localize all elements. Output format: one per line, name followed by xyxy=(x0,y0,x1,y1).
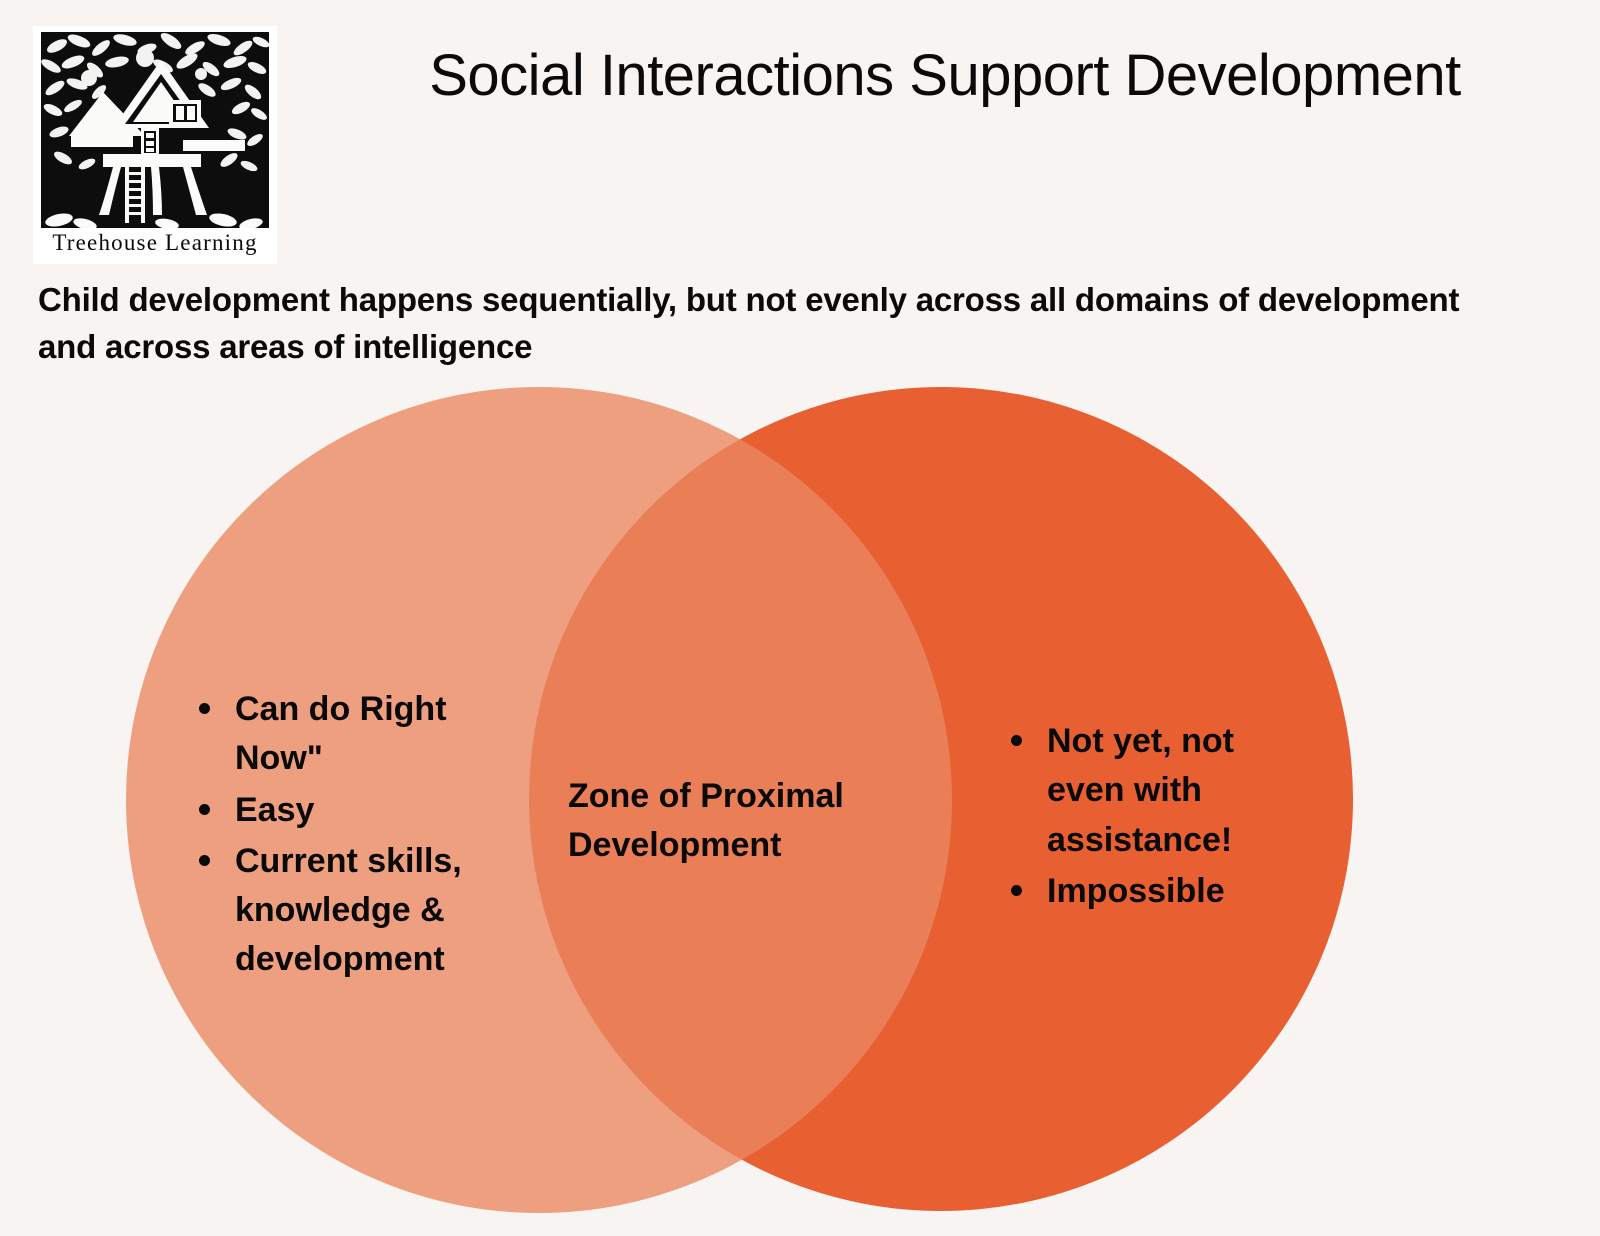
venn-overlap-label: Zone of Proximal Development xyxy=(568,772,898,871)
venn-left-item-1: Easy xyxy=(235,791,314,829)
list-item: Easy xyxy=(193,786,498,835)
list-item: Not yet, not even with assistance! xyxy=(1005,717,1280,865)
page-subtitle: Child development happens sequentially, … xyxy=(38,277,1498,371)
venn-left-item-0: Can do Right Now" xyxy=(235,690,447,777)
logo-caption: Treehouse Learning xyxy=(33,230,277,256)
list-item: Can do Right Now" xyxy=(193,685,498,784)
venn-right-list: Not yet, not even with assistance! Impos… xyxy=(1005,717,1280,918)
venn-left-list: Can do Right Now" Easy Current skills, k… xyxy=(193,685,498,987)
venn-left-item-2: Current skills, knowledge & development xyxy=(235,842,462,979)
venn-right-item-1: Impossible xyxy=(1047,872,1225,910)
list-item: Current skills, knowledge & development xyxy=(193,837,498,985)
page-title: Social Interactions Support Development xyxy=(300,45,1590,108)
list-item: Impossible xyxy=(1005,867,1280,916)
treehouse-illustration-icon xyxy=(41,32,269,228)
logo: Treehouse Learning xyxy=(33,26,277,264)
venn-right-item-0: Not yet, not even with assistance! xyxy=(1047,722,1234,859)
